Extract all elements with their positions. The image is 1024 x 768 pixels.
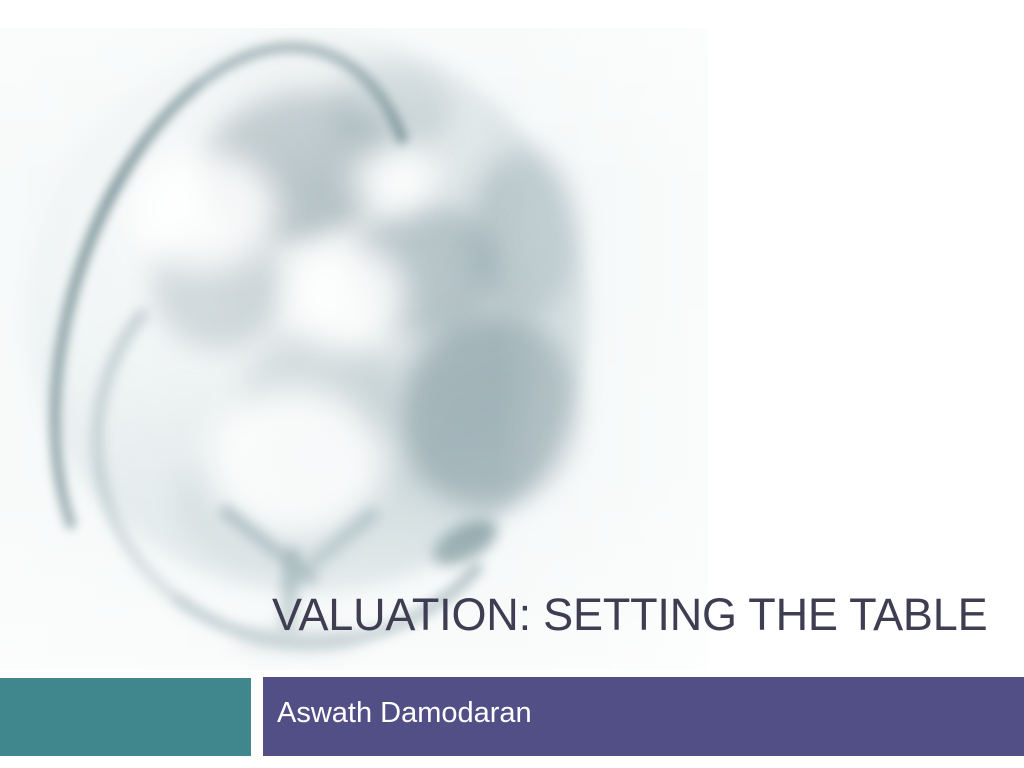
accent-bar-teal bbox=[0, 678, 251, 756]
globe-photo bbox=[0, 28, 708, 670]
slide-subtitle-author: Aswath Damodaran bbox=[277, 698, 532, 730]
globe-landmass-blob bbox=[470, 148, 580, 318]
slide-title: VALUATION: SETTING THE TABLE bbox=[272, 592, 972, 639]
presentation-slide: VALUATION: SETTING THE TABLE Aswath Damo… bbox=[0, 0, 1024, 768]
